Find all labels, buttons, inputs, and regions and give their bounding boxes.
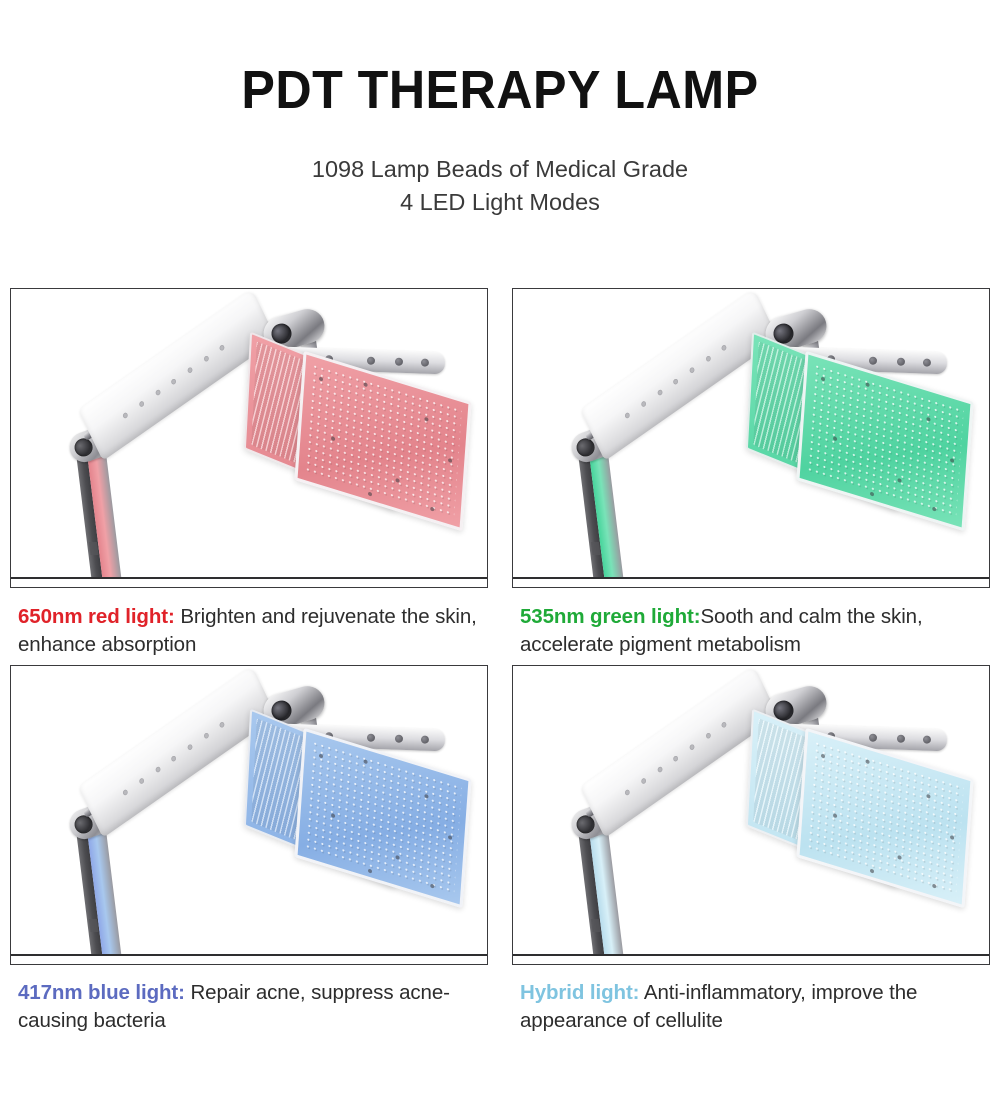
caption-hybrid: Hybrid light: Anti-inflammatory, improve… [512,965,990,1034]
led-bead-grid [304,740,462,897]
led-panel-front [796,351,973,532]
page-header: PDT THERAPY LAMP 1098 Lamp Beads of Medi… [0,0,1000,219]
light-mode-card-red: 650nm red light: Brighten and rejuvenate… [10,288,488,658]
caption-red: 650nm red light: Brighten and rejuvenate… [10,588,488,658]
pdt-lamp-red-icon [11,289,487,587]
caption-green: 535nm green light:Sooth and calm the ski… [512,588,990,658]
caption-blue: 417nm blue light: Repair acne, suppress … [10,965,488,1034]
post-label [89,542,99,555]
product-photo-red [10,288,488,588]
housing-screws [624,717,735,800]
light-modes-grid: 650nm red light: Brighten and rejuvenate… [10,288,990,1035]
page-subtitle: 1098 Lamp Beads of Medical Grade 4 LED L… [0,153,1000,220]
light-mode-card-blue: 417nm blue light: Repair acne, suppress … [10,665,488,1034]
housing-screws [122,717,233,800]
lamp-post [577,443,623,577]
led-panel-front [294,728,471,909]
pdt-lamp-hybrid-icon [513,666,989,964]
caption-tag-hybrid: Hybrid light: [520,981,639,1004]
ground-line [11,954,487,956]
light-mode-card-hybrid: Hybrid light: Anti-inflammatory, improve… [512,665,990,1034]
ground-line [513,577,989,579]
subtitle-line-2: 4 LED Light Modes [0,186,1000,219]
housing-screws [122,339,233,422]
pdt-lamp-blue-icon [11,666,487,964]
led-panel-front [294,351,471,532]
led-bead-grid [304,362,462,519]
lamp-post [75,820,121,954]
pdt-lamp-green-icon [513,289,989,587]
caption-tag-green: 535nm green light: [520,605,700,628]
ground-line [11,577,487,579]
lamp-post [75,443,121,577]
caption-tag-blue: 417nm blue light: [18,981,185,1004]
product-photo-blue [10,665,488,965]
post-label [591,542,601,555]
subtitle-line-1: 1098 Lamp Beads of Medical Grade [0,153,1000,186]
post-label [591,919,601,932]
caption-tag-red: 650nm red light: [18,605,175,628]
led-bead-grid [806,740,964,897]
lamp-post [577,820,623,954]
post-label [89,919,99,932]
led-panel-front [796,728,973,909]
led-bead-grid [806,362,964,519]
page-title: PDT THERAPY LAMP [35,62,965,119]
product-photo-hybrid [512,665,990,965]
ground-line [513,954,989,956]
product-photo-green [512,288,990,588]
light-mode-card-green: 535nm green light:Sooth and calm the ski… [512,288,990,658]
housing-screws [624,339,735,422]
